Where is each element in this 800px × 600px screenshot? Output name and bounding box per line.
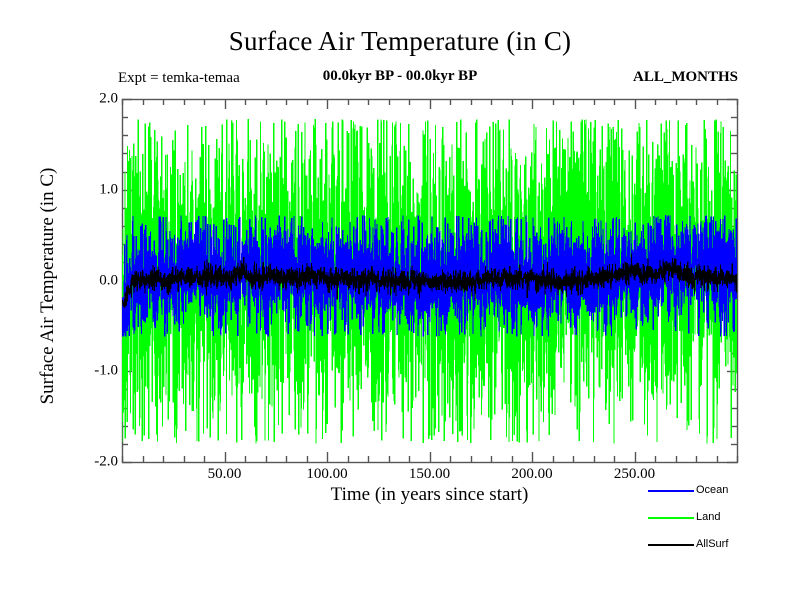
y-tick-label: 1.0 bbox=[66, 181, 118, 198]
page-title: Surface Air Temperature (in C) bbox=[0, 26, 800, 57]
legend-item-allsurf: AllSurf bbox=[648, 536, 798, 563]
y-tick-label: 2.0 bbox=[66, 91, 118, 108]
y-tick-label: -1.0 bbox=[66, 363, 118, 380]
legend-color-swatch bbox=[648, 490, 694, 492]
legend-label: AllSurf bbox=[696, 536, 728, 552]
legend-item-land: Land bbox=[648, 509, 798, 536]
x-tick-label: 250.00 bbox=[614, 466, 655, 483]
legend-color-swatch bbox=[648, 544, 694, 546]
x-tick-label: 200.00 bbox=[511, 466, 552, 483]
legend-color-swatch bbox=[648, 517, 694, 519]
x-tick-label: 50.00 bbox=[208, 466, 242, 483]
y-axis-title: Surface Air Temperature (in C) bbox=[37, 96, 59, 476]
x-tick-label: 100.00 bbox=[306, 466, 347, 483]
legend-item-ocean: Ocean bbox=[648, 482, 798, 509]
y-tick-label: 0.0 bbox=[66, 272, 118, 289]
y-axis-tick-labels: 2.01.00.0-1.0-2.0 bbox=[60, 0, 118, 600]
months-label: ALL_MONTHS bbox=[633, 69, 738, 86]
legend-label: Land bbox=[696, 509, 720, 525]
x-tick-label: 150.00 bbox=[409, 466, 450, 483]
legend-label: Ocean bbox=[696, 482, 728, 498]
series-clip-group bbox=[122, 119, 737, 444]
chart-container: Surface Air Temperature (in C) Expt = te… bbox=[0, 0, 800, 600]
data-series-group bbox=[122, 119, 737, 444]
legend: OceanLandAllSurf bbox=[648, 482, 798, 563]
